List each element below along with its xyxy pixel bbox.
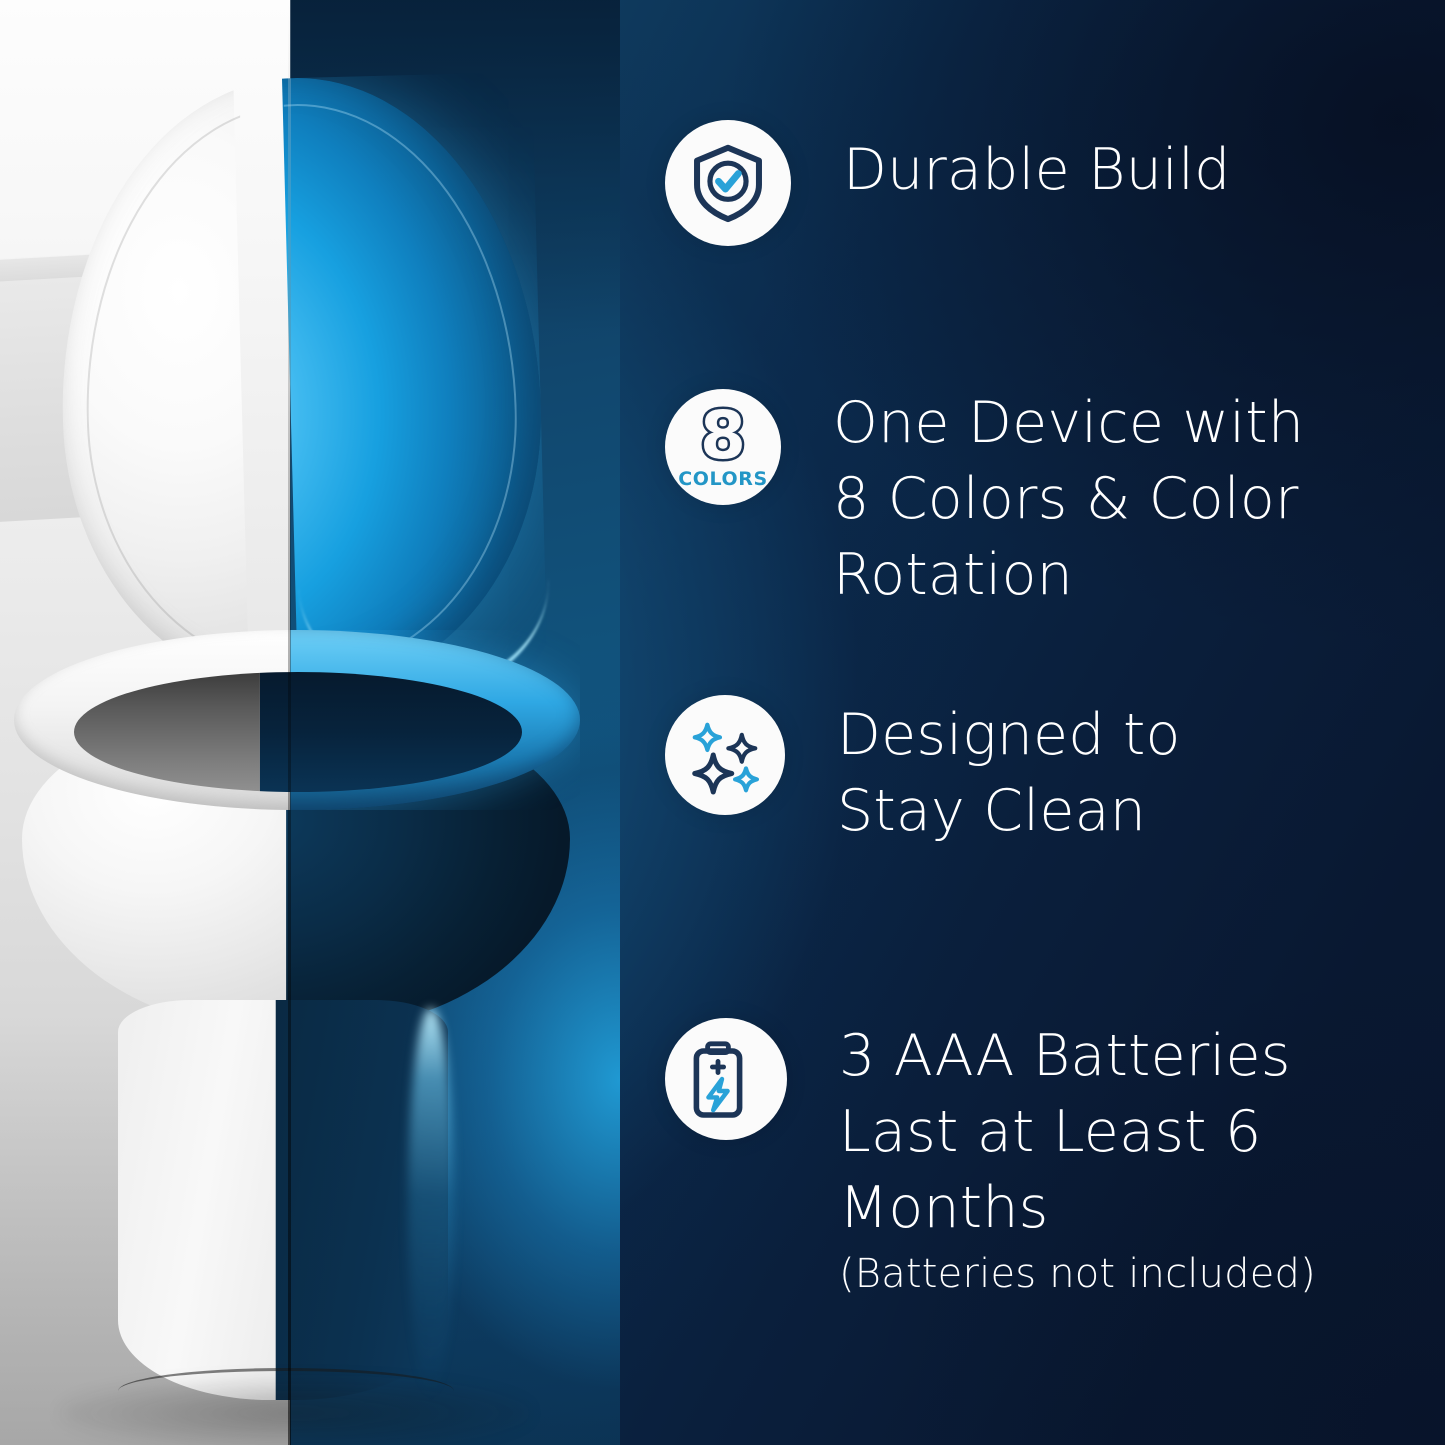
feature-line: Durable Build [843,132,1231,208]
feature-line: Designed to [837,697,1181,773]
badge-caption: COLORS [678,470,768,489]
sparkles-icon [665,695,785,815]
toilet-floor-shadow [60,1378,530,1445]
toilet-illustration [0,0,620,1445]
toilet-pedestal-glow [408,1008,454,1400]
feature-line: Stay Clean [837,773,1181,849]
split-divider [288,0,291,1445]
feature-stay-clean: Designed to Stay Clean [665,695,1181,849]
feature-battery-life: 3 AAA Batteries Last at Least 6 Months (… [665,1018,1316,1300]
feature-eight-colors: 8 COLORS One Device with 8 Colors & Colo… [665,385,1304,613]
feature-line: 3 AAA Batteries [839,1018,1316,1094]
feature-stay-clean-text: Designed to Stay Clean [837,697,1181,849]
feature-list: Durable Build 8 COLORS One Device with 8… [660,0,1445,1445]
feature-battery-life-text: 3 AAA Batteries Last at Least 6 Months (… [839,1018,1316,1300]
battery-bolt-icon [665,1018,787,1140]
shield-check-icon [665,120,791,246]
feature-subnote: (Batteries not included) [839,1248,1316,1300]
feature-durable-build-text: Durable Build [843,132,1231,208]
product-infographic: Durable Build 8 COLORS One Device with 8… [0,0,1445,1445]
feature-line: Months [839,1170,1316,1246]
split-screen-photo [0,0,620,1445]
feature-line: 8 Colors & Color [833,461,1304,537]
feature-line: Rotation [833,537,1304,613]
feature-line: Last at Least 6 [839,1094,1316,1170]
toilet-pedestal [118,1000,448,1400]
eight-colors-badge: 8 COLORS [678,405,768,489]
feature-eight-colors-text: One Device with 8 Colors & Color Rotatio… [833,385,1304,613]
feature-line: One Device with [833,385,1304,461]
feature-durable-build: Durable Build [665,120,1231,246]
eight-colors-badge-icon: 8 COLORS [665,389,781,505]
badge-number: 8 [700,405,746,468]
